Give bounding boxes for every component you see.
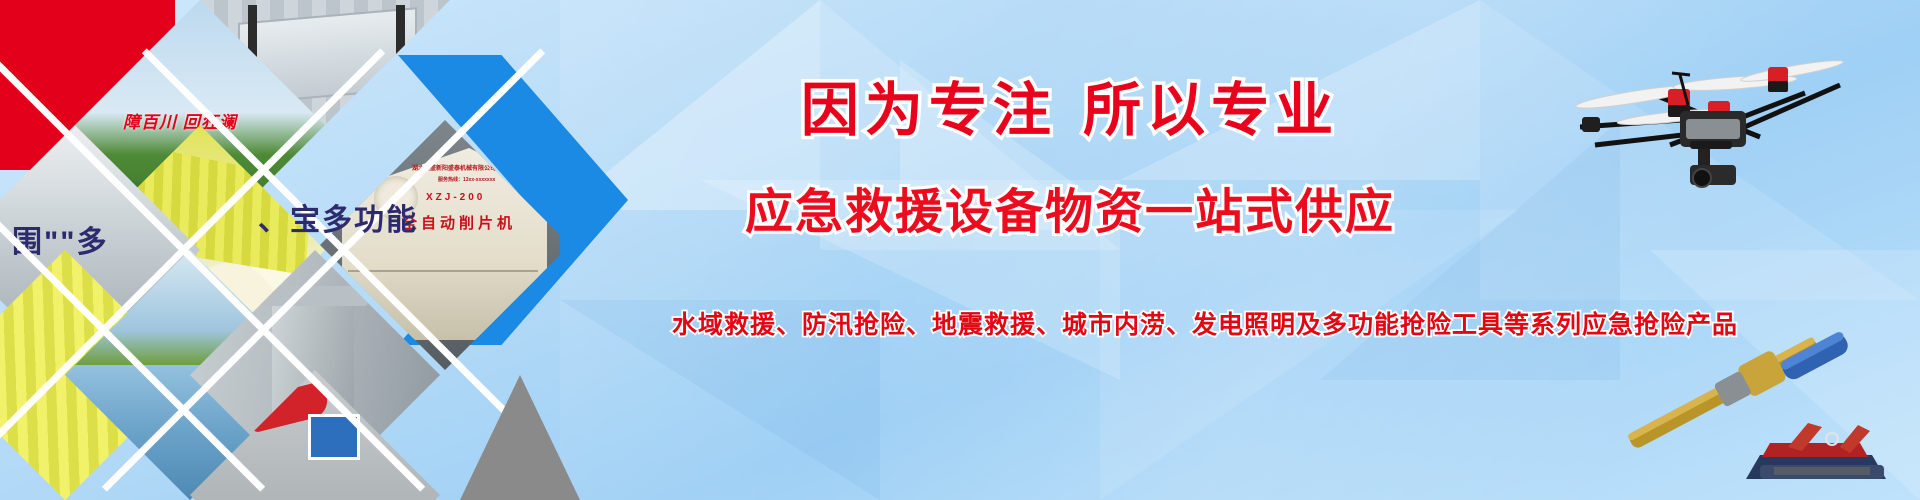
headline-secondary: 应急救援设备物资一站式供应 (570, 172, 1570, 242)
collage-overlay-right: 、宝多功能 (258, 195, 418, 239)
machine-model-name: 全自动削片机 (402, 212, 516, 233)
machine-model-code: XZJ-200 (426, 192, 485, 203)
promotional-banner: 障百川 回狂澜 围""多 (0, 0, 1920, 500)
machine-phone-label: 服务热线：13xx-xxxxxxx (438, 176, 495, 183)
banner-text-block: 因为专注 所以专业 应急救援设备物资一站式供应 水域救援、防汛抢险、地震救援、城… (560, 0, 1920, 500)
headline-primary: 因为专注 所以专业 (570, 63, 1570, 147)
product-categories-subline: 水域救援、防汛抢险、地震救援、城市内涝、发电照明及多功能抢险工具等系列应急抢险产… (490, 305, 1920, 341)
